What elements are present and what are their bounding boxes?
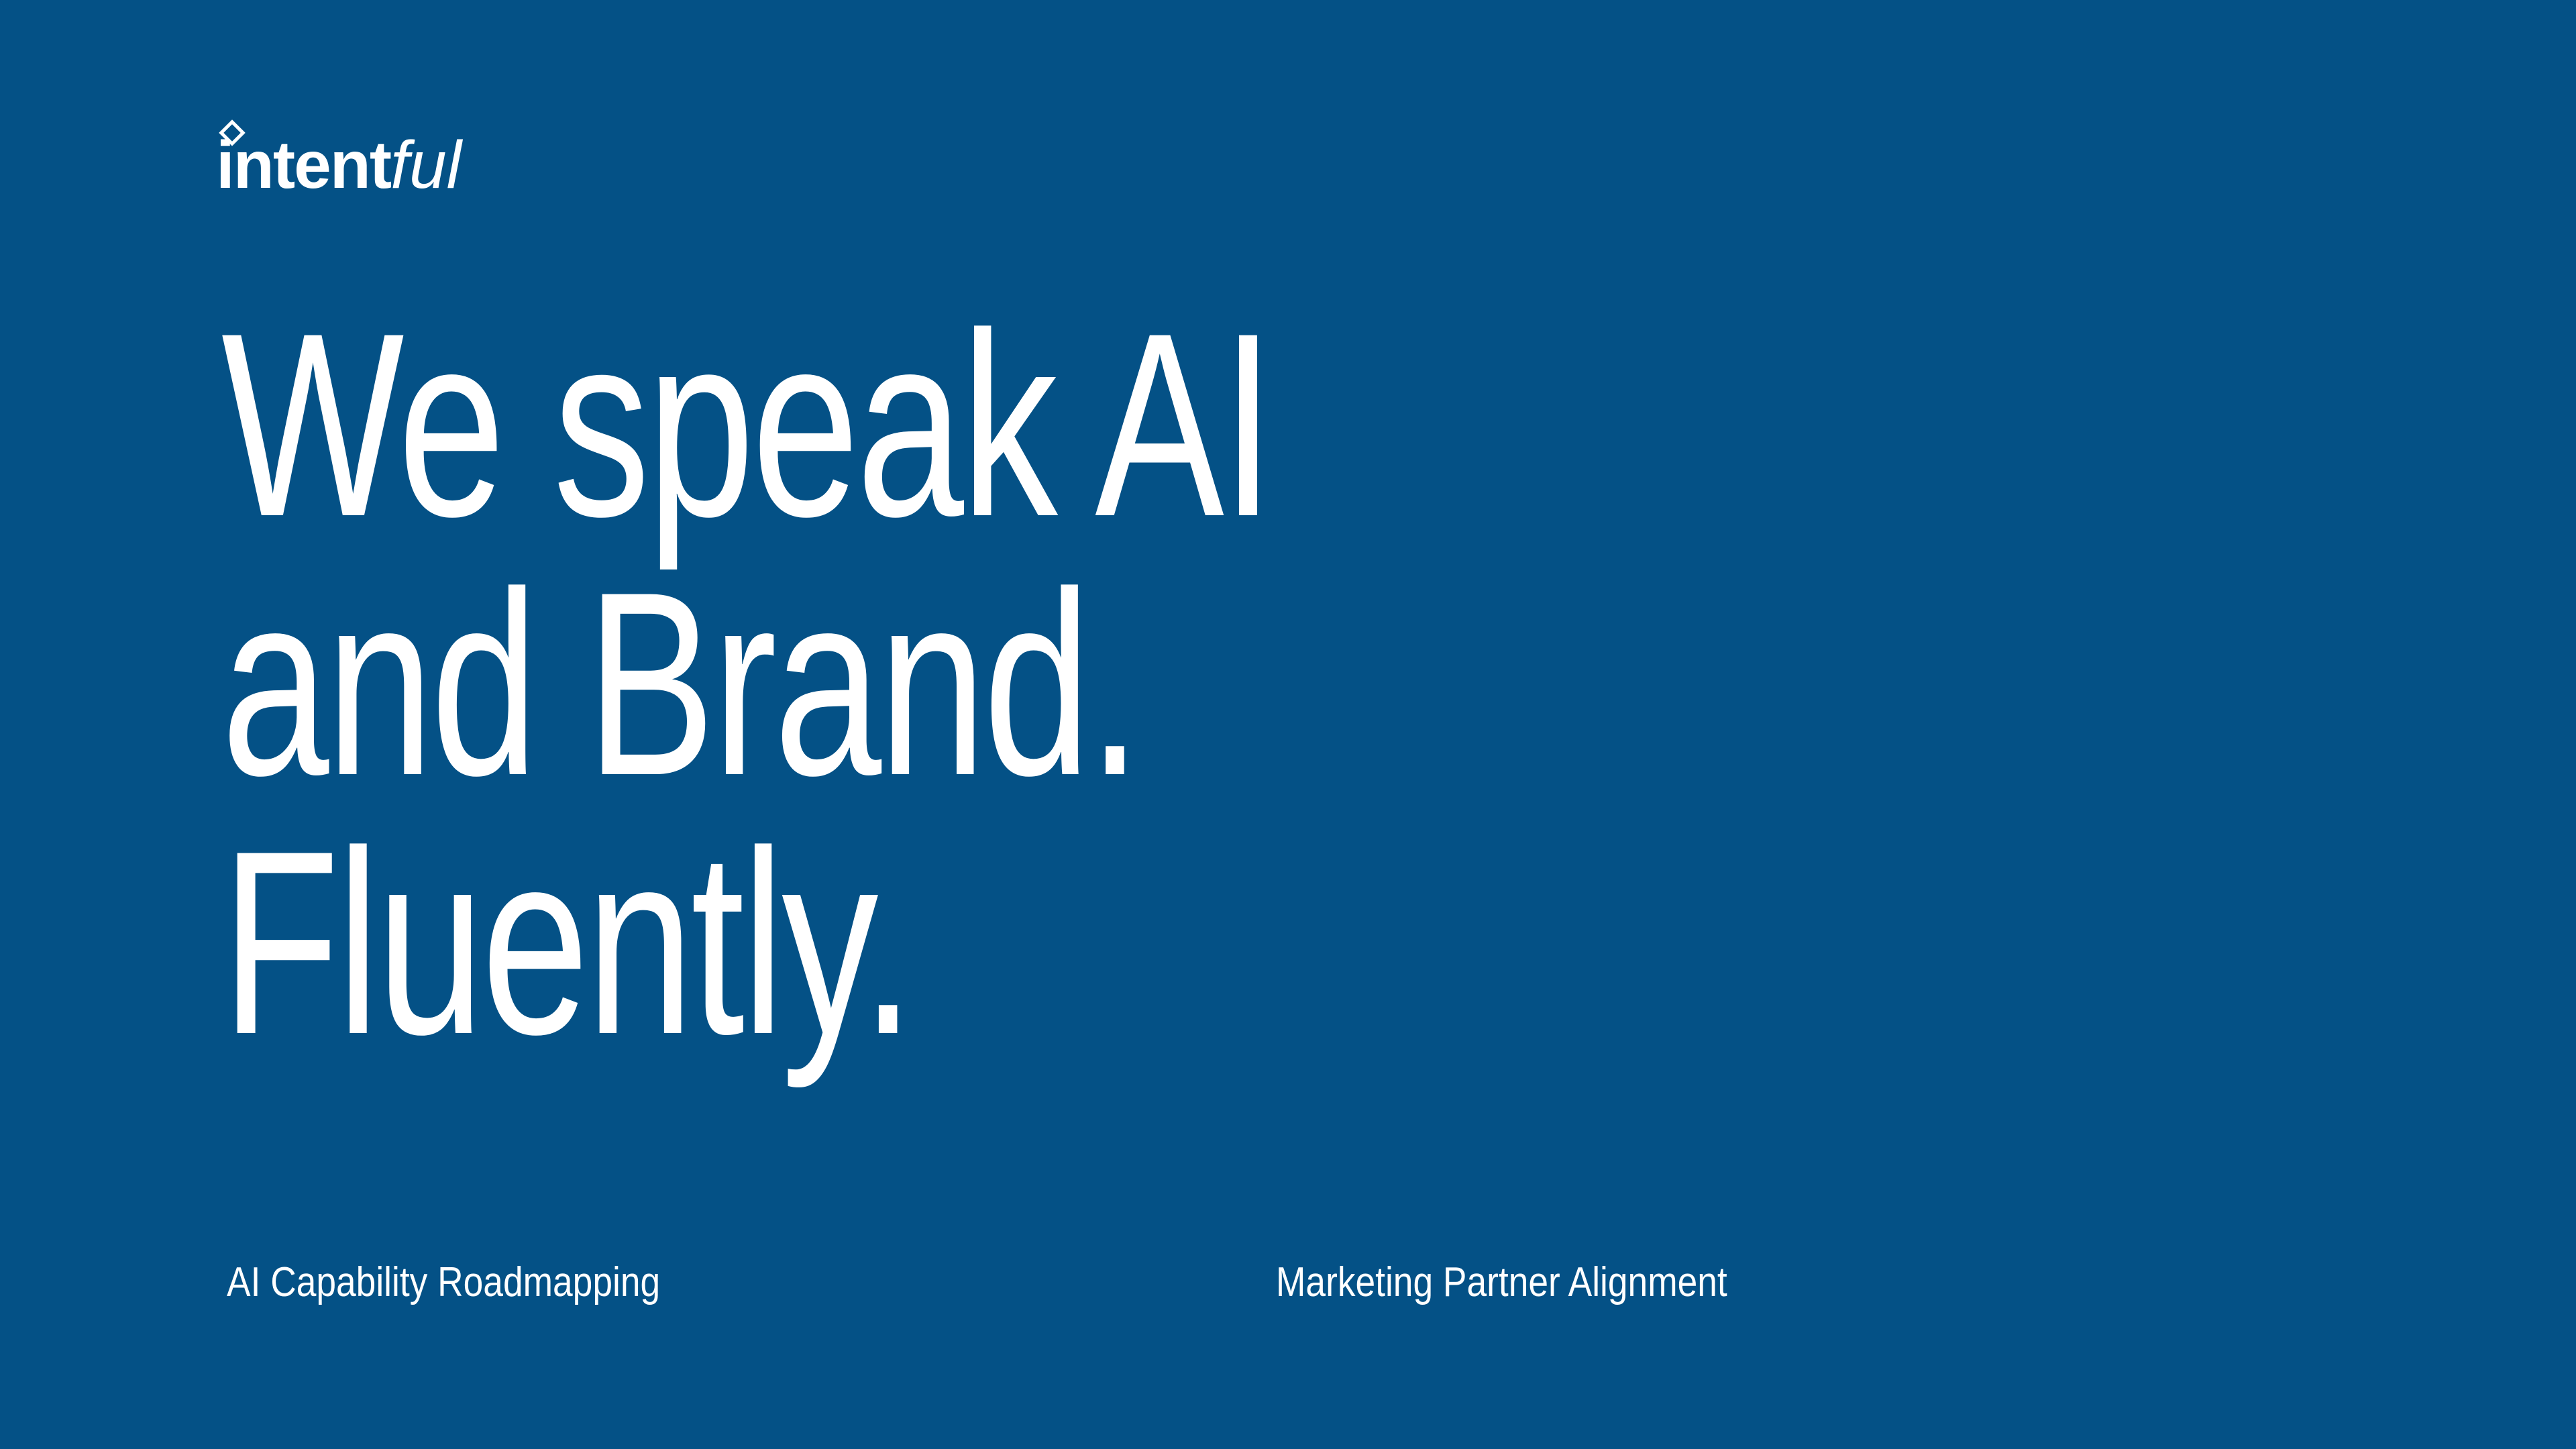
headline-line-1: We speak AI [221, 295, 1711, 554]
diamond-icon-shape [219, 119, 246, 146]
diamond-icon [219, 119, 246, 146]
footer-label-ai-capability-roadmapping: AI Capability Roadmapping [227, 1260, 660, 1305]
headline: We speak AI and Brand. Fluently. [221, 295, 1711, 1072]
brand-logo-light-part: ful [390, 127, 462, 203]
footer-label-marketing-partner-alignment: Marketing Partner Alignment [1276, 1260, 1727, 1305]
headline-line-3: Fluently. [221, 813, 1711, 1072]
brand-logo[interactable]: intentful [216, 119, 462, 199]
footer-labels: AI Capability Roadmapping Marketing Part… [0, 1260, 2576, 1320]
slide-canvas: intentful We speak AI and Brand. Fluentl… [0, 0, 2576, 1449]
headline-line-2: and Brand. [221, 554, 1711, 813]
brand-logo-wordmark: intentful [216, 119, 462, 199]
